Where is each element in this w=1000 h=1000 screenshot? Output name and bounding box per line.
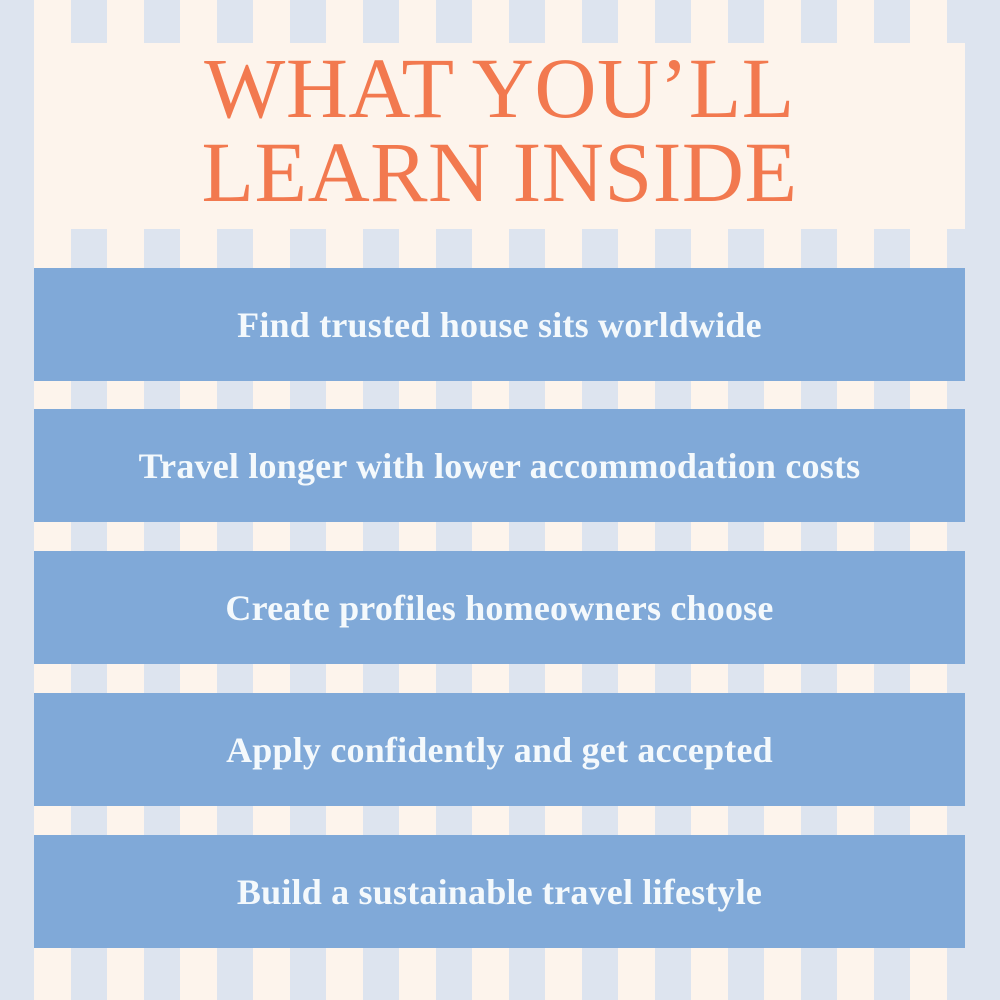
benefit-label-2: Travel longer with lower accommodation c…	[115, 445, 885, 487]
benefit-label-4: Apply confidently and get accepted	[202, 729, 797, 771]
benefit-bar-5: Build a sustainable travel lifestyle	[34, 835, 965, 948]
benefit-bar-3: Create profiles homeowners choose	[34, 551, 965, 664]
benefit-label-5: Build a sustainable travel lifestyle	[213, 871, 786, 913]
page-title: WHAT YOU’LL LEARN INSIDE	[34, 46, 965, 215]
benefit-bar-2: Travel longer with lower accommodation c…	[34, 409, 965, 522]
benefit-bar-1: Find trusted house sits worldwide	[34, 268, 965, 381]
left-gutter	[0, 0, 34, 1000]
benefit-bar-4: Apply confidently and get accepted	[34, 693, 965, 806]
benefit-label-3: Create profiles homeowners choose	[201, 587, 797, 629]
benefit-label-1: Find trusted house sits worldwide	[213, 304, 786, 346]
poster-canvas: WHAT YOU’LL LEARN INSIDE Find trusted ho…	[0, 0, 1000, 1000]
right-gutter	[965, 0, 1000, 1000]
